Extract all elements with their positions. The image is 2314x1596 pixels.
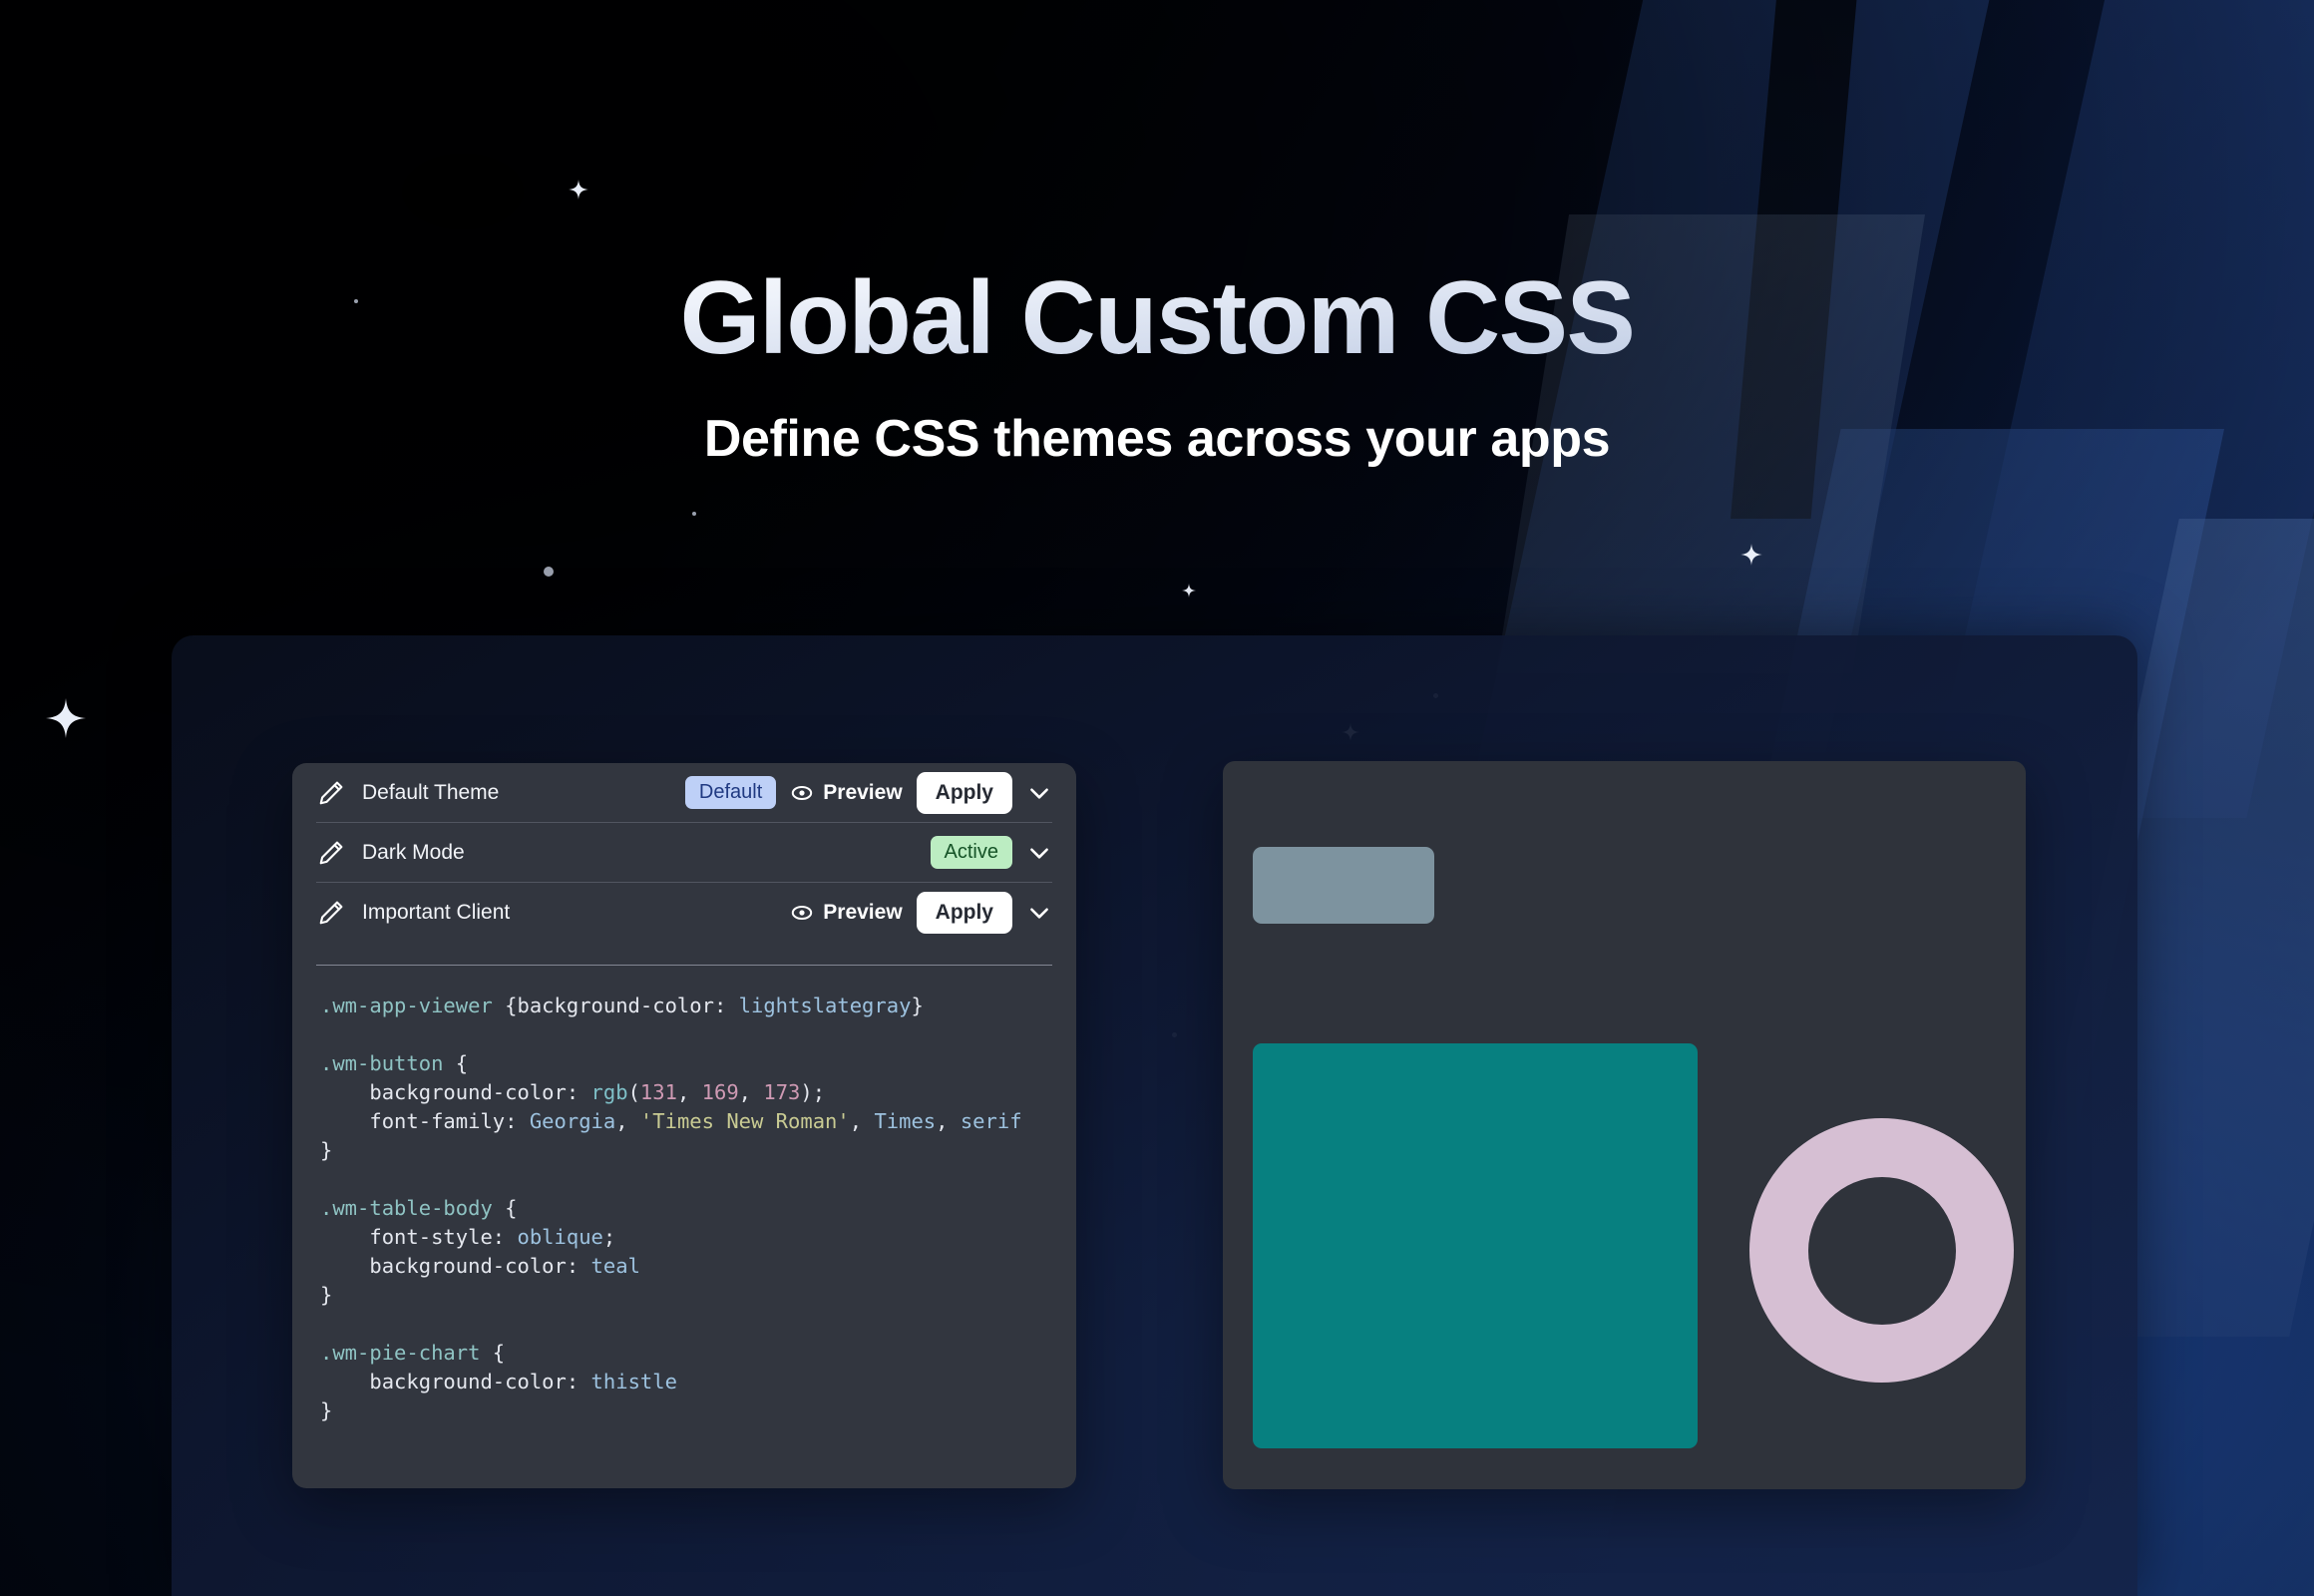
code-token: rgb <box>591 1080 628 1104</box>
theme-name-label: Dark Mode <box>362 841 465 865</box>
code-token: } <box>320 1283 332 1307</box>
theme-row-actions: PreviewApply <box>790 892 1052 934</box>
css-code-block[interactable]: .wm-app-viewer {background-color: lights… <box>292 966 1076 1425</box>
code-token: { <box>480 1341 505 1365</box>
code-token: 173 <box>763 1080 800 1104</box>
code-token: Times <box>874 1109 936 1133</box>
code-token: background-color: <box>320 1370 591 1394</box>
code-token: , <box>936 1109 961 1133</box>
code-token: 131 <box>640 1080 677 1104</box>
theme-row-actions: DefaultPreviewApply <box>685 772 1052 814</box>
eye-icon <box>790 901 814 925</box>
code-token: } <box>911 994 923 1017</box>
pencil-icon[interactable] <box>316 838 346 868</box>
preview-button-label: Preview <box>823 781 902 805</box>
apply-button[interactable]: Apply <box>917 892 1012 934</box>
page-root: Global Custom CSS Define CSS themes acro… <box>0 0 2314 1596</box>
code-token: background-color: <box>320 1254 591 1278</box>
code-token: 'Times New Roman' <box>640 1109 850 1133</box>
theme-row[interactable]: Dark ModeActive <box>316 823 1052 883</box>
code-token: } <box>320 1398 332 1422</box>
code-token: thistle <box>591 1370 677 1394</box>
code-token: { <box>493 1196 518 1220</box>
preview-button[interactable]: Preview <box>790 781 902 805</box>
theme-row-actions: Active <box>931 836 1052 869</box>
code-token: , <box>677 1080 702 1104</box>
code-token: background-color: <box>320 1080 591 1104</box>
preview-button-label: Preview <box>823 901 902 925</box>
code-token: {background-color: <box>493 994 739 1017</box>
chevron-down-icon[interactable] <box>1026 900 1052 926</box>
code-token: font-style: <box>320 1225 517 1249</box>
code-token: 169 <box>702 1080 739 1104</box>
code-token: oblique <box>517 1225 602 1249</box>
code-token: serif <box>961 1109 1022 1133</box>
apply-button[interactable]: Apply <box>917 772 1012 814</box>
code-token: lightslategray <box>739 994 912 1017</box>
theme-name-label: Default Theme <box>362 781 499 805</box>
star-dot-icon <box>544 567 554 577</box>
code-token: .wm-button <box>320 1051 443 1075</box>
code-token: .wm-pie-chart <box>320 1341 480 1365</box>
preview-button-element <box>1253 847 1434 924</box>
code-token: teal <box>591 1254 640 1278</box>
theme-name-label: Important Client <box>362 901 510 925</box>
page-subtitle: Define CSS themes across your apps <box>0 409 2314 469</box>
code-token: , <box>850 1109 875 1133</box>
star-dot-icon <box>692 512 696 516</box>
code-token: font-family: <box>320 1109 530 1133</box>
pencil-icon[interactable] <box>316 898 346 928</box>
status-badge: Active <box>931 836 1012 869</box>
app-preview-panel <box>1223 761 2026 1489</box>
code-token: , <box>615 1109 640 1133</box>
preview-table-element <box>1253 1043 1698 1448</box>
code-token: , <box>739 1080 764 1104</box>
code-token: } <box>320 1138 332 1162</box>
pencil-icon[interactable] <box>316 778 346 808</box>
preview-button[interactable]: Preview <box>790 901 902 925</box>
code-token: ; <box>603 1225 615 1249</box>
code-token: .wm-app-viewer <box>320 994 493 1017</box>
preview-pie-chart-element <box>1749 1118 2014 1383</box>
page-title: Global Custom CSS <box>0 264 2314 373</box>
code-token: .wm-table-body <box>320 1196 493 1220</box>
chevron-down-icon[interactable] <box>1026 780 1052 806</box>
theme-row[interactable]: Default ThemeDefaultPreviewApply <box>316 763 1052 823</box>
theme-list: Default ThemeDefaultPreviewApplyDark Mod… <box>292 763 1076 943</box>
code-token: ); <box>800 1080 825 1104</box>
chevron-down-icon[interactable] <box>1026 840 1052 866</box>
code-token: ( <box>628 1080 640 1104</box>
code-token: { <box>443 1051 468 1075</box>
theme-row[interactable]: Important ClientPreviewApply <box>316 883 1052 943</box>
theme-editor-card: Default ThemeDefaultPreviewApplyDark Mod… <box>292 763 1076 1488</box>
eye-icon <box>790 781 814 805</box>
hero-section: Global Custom CSS Define CSS themes acro… <box>0 0 2314 469</box>
code-token: Georgia <box>530 1109 615 1133</box>
status-badge: Default <box>685 776 776 809</box>
